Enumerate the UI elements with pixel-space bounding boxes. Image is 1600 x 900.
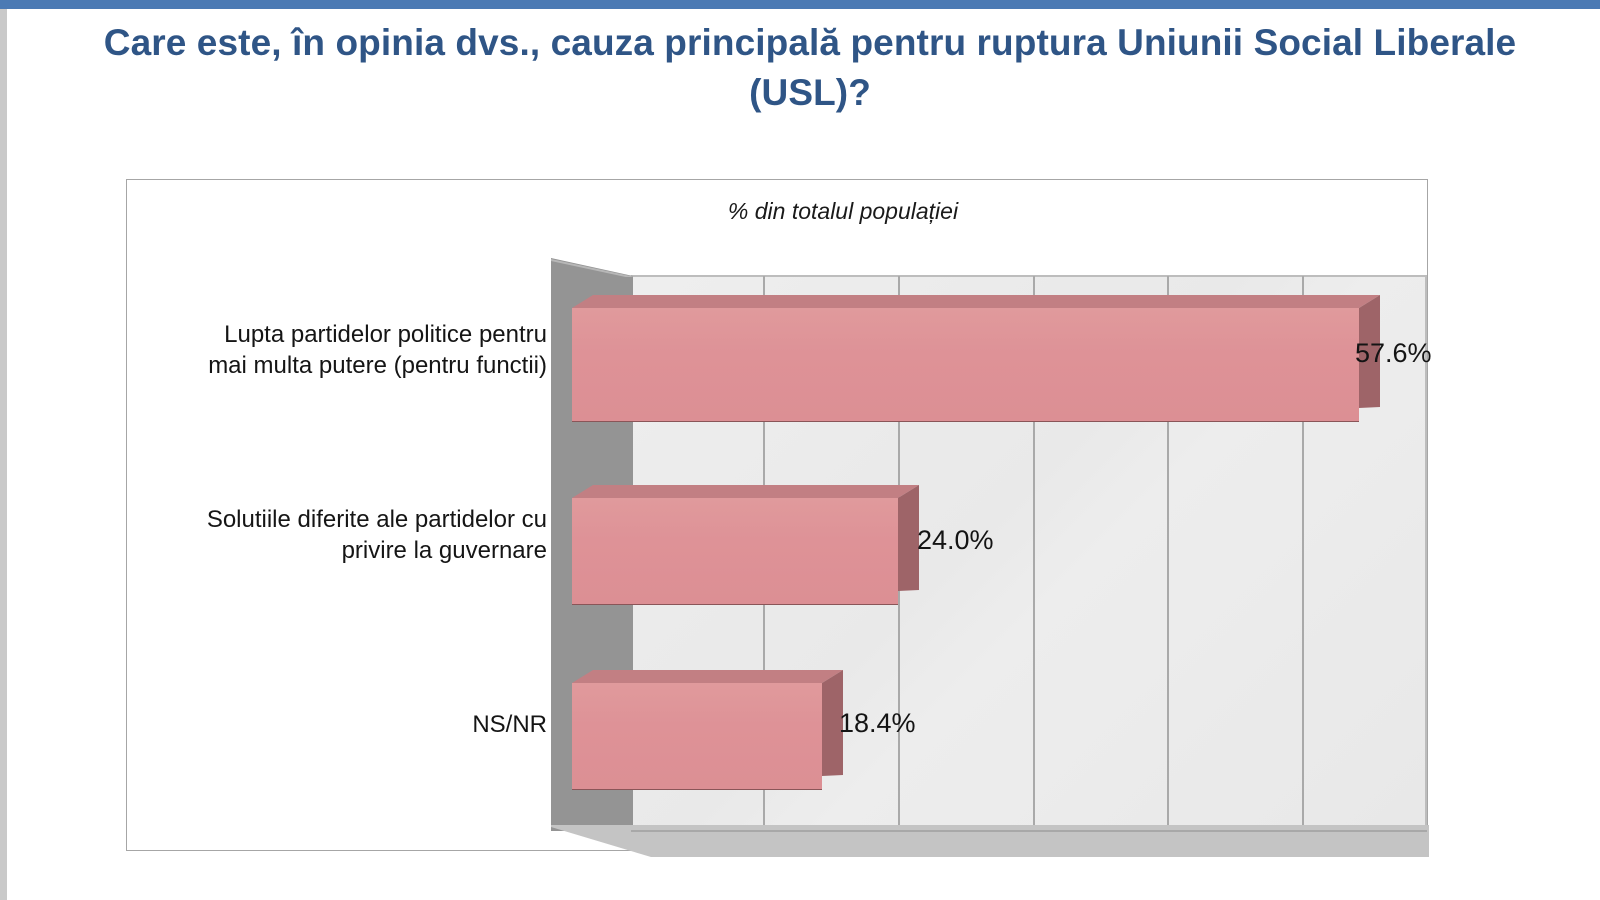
bar-series-0[interactable] xyxy=(572,308,1380,421)
slide-top-accent-bar xyxy=(0,0,1600,9)
category-label-0: Lupta partidelor politice pentru mai mul… xyxy=(137,320,547,381)
category-label-1-line1: Solutiile diferite ale partidelor cu xyxy=(137,505,547,536)
category-label-2: NS/NR xyxy=(137,710,547,741)
bar-series-2[interactable] xyxy=(572,683,843,789)
bar-top-face-0 xyxy=(572,295,1380,309)
plot-floor-front-edge xyxy=(631,830,1427,832)
bar-series-1[interactable] xyxy=(572,498,919,604)
category-label-0-line2: mai multa putere (pentru functii) xyxy=(137,351,547,382)
category-label-2-line1: NS/NR xyxy=(137,710,547,741)
plot-back-wall-top-edge xyxy=(631,275,1427,277)
bar-front-face-0 xyxy=(572,308,1359,422)
bar-value-label-0: 57.6% xyxy=(1355,338,1432,369)
bar-top-face-2 xyxy=(572,670,843,684)
chart-plot-area: 57.6% 24.0% 18.4% Lupta partidelor polit… xyxy=(127,180,1429,852)
bar-front-face-2 xyxy=(572,683,822,790)
bar-value-label-2: 18.4% xyxy=(839,708,916,739)
bar-side-face-1 xyxy=(898,485,919,591)
bar-front-face-1 xyxy=(572,498,898,605)
category-label-1-line2: privire la guvernare xyxy=(137,536,547,567)
category-label-1: Solutiile diferite ale partidelor cu pri… xyxy=(137,505,547,566)
bar-top-face-1 xyxy=(572,485,919,499)
presentation-slide: Care este, în opinia dvs., cauza princip… xyxy=(0,0,1600,900)
bar-value-label-1: 24.0% xyxy=(917,525,994,556)
slide-title: Care este, în opinia dvs., cauza princip… xyxy=(100,18,1520,118)
category-label-0-line1: Lupta partidelor politice pentru xyxy=(137,320,547,351)
slide-left-border xyxy=(0,9,7,900)
chart-container: % din totalul populației xyxy=(126,179,1428,851)
